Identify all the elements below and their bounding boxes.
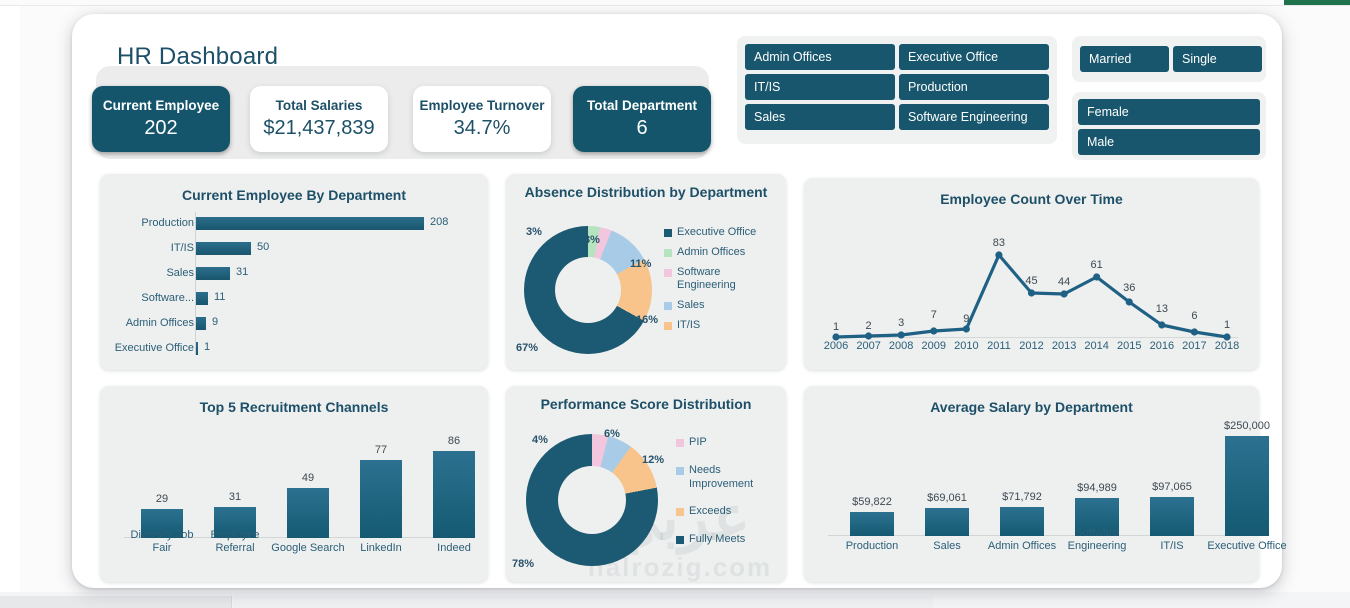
bar[interactable] — [1000, 507, 1044, 536]
data-point — [963, 325, 970, 332]
bar-row: IT/IS50 — [100, 237, 488, 262]
chart-title: Current Employee By Department — [100, 186, 488, 204]
legend-swatch-icon — [676, 467, 684, 475]
vertical-bar-chart: $59,822Production$69,061Sales$71,792Admi… — [814, 422, 1249, 572]
chart-legend: PIPNeeds ImprovementExceedsFully Meets — [676, 436, 786, 561]
donut-slice-label: 78% — [512, 558, 534, 570]
kpi-label: Total Salaries — [276, 99, 363, 114]
bar[interactable] — [360, 460, 402, 538]
bar-category-label: IT/IS — [34, 242, 194, 254]
bar-category-label: Employee Referral — [195, 529, 275, 557]
bar-value-label: $71,792 — [1002, 491, 1042, 503]
bar-category-label: IT/IS — [1130, 540, 1214, 554]
bar-row: Admin Offices9 — [100, 312, 488, 337]
data-point — [1126, 298, 1133, 305]
data-point — [1191, 328, 1198, 335]
data-point — [898, 331, 905, 338]
legend-label: PIP — [689, 436, 707, 450]
filter-single[interactable]: Single — [1173, 46, 1262, 72]
kpi-card-current-employee[interactable]: Current Employee 202 — [92, 86, 230, 152]
bar-value-label: 208 — [430, 216, 448, 228]
bar-value-label: $69,061 — [927, 492, 967, 504]
donut-slice-label: 3% — [584, 234, 600, 246]
bar-category-label: Sales — [34, 267, 194, 279]
bar[interactable] — [196, 292, 208, 305]
legend-swatch-icon — [676, 508, 684, 516]
x-tick-label: 2007 — [856, 340, 880, 352]
panel-current-employee-by-department: Current Employee By Department Productio… — [100, 174, 488, 370]
bottom-tab-right[interactable] — [233, 596, 933, 608]
horizontal-bar-chart: Production208IT/IS50Sales31Software...11… — [100, 212, 488, 362]
legend-item[interactable]: Needs Improvement — [676, 464, 786, 492]
bar-value-label: 1 — [204, 341, 210, 353]
data-point-label: 1 — [833, 321, 839, 333]
bar-category-label: Sales — [905, 540, 989, 554]
data-point-label: 13 — [1156, 303, 1168, 315]
data-point-label: 3 — [898, 317, 904, 329]
legend-item[interactable]: Software Engineering — [664, 266, 782, 294]
bar-value-label: $250,000 — [1224, 420, 1270, 432]
bar-value-label: 31 — [229, 491, 241, 503]
filter-software-engineering[interactable]: Software Engineering — [899, 104, 1049, 130]
bar-category-label: Software Engineering — [1055, 527, 1139, 555]
data-point-label: 44 — [1058, 276, 1070, 288]
filter-admin-offices[interactable]: Admin Offices — [745, 44, 895, 70]
bar-value-label: 86 — [448, 435, 460, 447]
bar-value-label: 50 — [257, 241, 269, 253]
x-tick-label: 2006 — [824, 340, 848, 352]
donut-slice-label: 4% — [532, 434, 548, 446]
legend-label: Fully Meets — [689, 533, 745, 547]
filter-production[interactable]: Production — [899, 74, 1049, 100]
x-axis-labels: 2006200720082009201020112012201320142015… — [816, 340, 1247, 360]
donut-slice-label: 67% — [516, 342, 538, 354]
bar-row: Software...11 — [100, 287, 488, 312]
legend-label: Sales — [677, 299, 705, 313]
filter-female[interactable]: Female — [1078, 99, 1260, 125]
bar-value-label: 77 — [375, 444, 387, 456]
bar[interactable] — [196, 217, 424, 230]
vertical-bar-chart: 29Diversity Job Fair31Employee Referral4… — [110, 422, 478, 572]
legend-item[interactable]: Fully Meets — [676, 533, 786, 547]
data-point-label: 9 — [963, 313, 969, 325]
data-point-label: 45 — [1025, 275, 1037, 287]
kpi-card-employee-turnover[interactable]: Employee Turnover 34.7% — [413, 86, 551, 152]
x-tick-label: 2014 — [1084, 340, 1108, 352]
dashboard-card: HR Dashboard Current Employee 202 Total … — [72, 14, 1282, 588]
filter-it-is[interactable]: IT/IS — [745, 74, 895, 100]
legend-swatch-icon — [664, 229, 672, 237]
bar-category-label: Admin Offices — [34, 317, 194, 329]
line-chart: 2006200720082009201020112012201320142015… — [816, 214, 1247, 362]
performance-donut-chart — [526, 434, 658, 566]
donut-slice-label: 3% — [526, 226, 542, 238]
legend-item[interactable]: Exceeds — [676, 505, 786, 519]
data-point-label: 2 — [866, 320, 872, 332]
chart-title: Top 5 Recruitment Channels — [100, 398, 488, 416]
legend-label: Admin Offices — [677, 246, 745, 260]
data-point — [1158, 321, 1165, 328]
bar-category-label: Production — [34, 217, 194, 229]
legend-item[interactable]: Executive Office — [664, 226, 782, 240]
bar-value-label: 11 — [214, 291, 225, 303]
donut-slice-label: 12% — [642, 454, 664, 466]
legend-label: Exceeds — [689, 505, 731, 519]
panel-top-recruitment-channels: Top 5 Recruitment Channels 29Diversity J… — [100, 386, 488, 582]
bar[interactable] — [196, 267, 230, 280]
legend-swatch-icon — [676, 439, 684, 447]
legend-swatch-icon — [664, 302, 672, 310]
legend-swatch-icon — [676, 536, 684, 544]
kpi-value: $21,437,839 — [263, 118, 374, 139]
x-tick-label: 2009 — [922, 340, 946, 352]
bar-value-label: 9 — [212, 316, 218, 328]
legend-item[interactable]: PIP — [676, 436, 786, 450]
filter-executive-office[interactable]: Executive Office — [899, 44, 1049, 70]
bar-value-label: $97,065 — [1152, 481, 1192, 493]
bar[interactable] — [196, 242, 251, 255]
chart-title: Absence Distribution by Department — [506, 183, 786, 201]
filter-male[interactable]: Male — [1078, 129, 1260, 155]
kpi-value: 6 — [636, 118, 647, 139]
legend-swatch-icon — [664, 322, 672, 330]
bar[interactable] — [287, 488, 329, 538]
panel-average-salary-by-department: Average Salary by Department $59,822Prod… — [804, 386, 1259, 582]
data-point-label: 6 — [1191, 310, 1197, 322]
kpi-label: Total Department — [587, 99, 697, 114]
legend-label: Needs Improvement — [689, 464, 786, 492]
top-divider — [0, 5, 1350, 6]
bar[interactable] — [196, 342, 198, 355]
bar[interactable] — [1225, 436, 1269, 536]
data-point-label: 1 — [1224, 319, 1230, 331]
x-tick-label: 2015 — [1117, 340, 1141, 352]
x-tick-label: 2017 — [1182, 340, 1206, 352]
data-point-label: 7 — [931, 309, 937, 321]
x-tick-label: 2018 — [1215, 340, 1239, 352]
legend-label: Executive Office — [677, 226, 756, 240]
dashboard-root: HR Dashboard Current Employee 202 Total … — [0, 0, 1350, 608]
legend-item[interactable]: Sales — [664, 299, 782, 313]
bar-category-label: Software... — [34, 292, 194, 304]
bar-row: Executive Office1 — [100, 337, 488, 362]
donut-slice-label: 16% — [636, 314, 658, 326]
x-tick-label: 2013 — [1052, 340, 1076, 352]
bar[interactable] — [1150, 497, 1194, 536]
data-point — [1060, 290, 1067, 297]
kpi-value: 34.7% — [454, 118, 511, 139]
filter-married[interactable]: Married — [1080, 46, 1169, 72]
kpi-label: Employee Turnover — [419, 99, 544, 114]
x-tick-label: 2010 — [954, 340, 978, 352]
bar-category-label: Executive Office — [1205, 540, 1289, 554]
panel-absence-distribution: Absence Distribution by Department 3%3%1… — [506, 174, 786, 370]
bar-category-label: Production — [830, 540, 914, 554]
x-tick-label: 2012 — [1019, 340, 1043, 352]
kpi-label: Current Employee — [103, 99, 219, 114]
bar[interactable] — [433, 451, 475, 538]
bar-value-label: 31 — [236, 266, 248, 278]
data-point — [865, 332, 872, 339]
legend-swatch-icon — [664, 269, 672, 277]
department-filter-panel: Admin Offices Executive Office IT/IS Pro… — [737, 36, 1057, 144]
legend-swatch-icon — [664, 249, 672, 257]
bar-category-label: Google Search — [268, 542, 348, 556]
gender-filter-panel: Female Male — [1072, 92, 1266, 160]
chart-title: Employee Count Over Time — [804, 190, 1259, 208]
bar[interactable] — [850, 512, 894, 536]
panel-performance-score-distribution: Performance Score Distribution 4%6%12%78… — [506, 386, 786, 582]
x-tick-label: 2008 — [889, 340, 913, 352]
legend-label: Software Engineering — [677, 266, 782, 294]
chart-title: Performance Score Distribution — [506, 395, 786, 413]
x-tick-label: 2011 — [987, 340, 1011, 352]
filter-sales[interactable]: Sales — [745, 104, 895, 130]
bar-category-label: Admin Offices — [980, 540, 1064, 554]
bar-category-label: Executive Office — [34, 342, 194, 354]
bar-value-label: $59,822 — [852, 496, 892, 508]
bottom-tab-left[interactable] — [0, 596, 232, 608]
legend-item[interactable]: IT/IS — [664, 319, 782, 333]
data-point-label: 83 — [993, 237, 1005, 249]
bar-category-label: Diversity Job Fair — [122, 529, 202, 557]
x-tick-label: 2016 — [1150, 340, 1174, 352]
bar-category-label: Indeed — [414, 542, 494, 556]
chart-title: Average Salary by Department — [804, 398, 1259, 416]
data-point — [1093, 273, 1100, 280]
bar[interactable] — [196, 317, 206, 330]
kpi-value: 202 — [144, 118, 177, 139]
bar-value-label: $94,989 — [1077, 482, 1117, 494]
kpi-card-total-salaries[interactable]: Total Salaries $21,437,839 — [250, 86, 388, 152]
bar-row: Production208 — [100, 212, 488, 237]
marital-filter-panel: Married Single — [1072, 36, 1266, 82]
bar[interactable] — [925, 508, 969, 536]
panel-employee-count-over-time: Employee Count Over Time 200620072008200… — [804, 178, 1259, 370]
bar-row: Sales31 — [100, 262, 488, 287]
data-point — [930, 327, 937, 334]
kpi-card-total-department[interactable]: Total Department 6 — [573, 86, 711, 152]
bar-value-label: 49 — [302, 472, 314, 484]
data-point — [995, 251, 1002, 258]
legend-label: IT/IS — [677, 319, 700, 333]
left-margin — [0, 6, 20, 600]
legend-item[interactable]: Admin Offices — [664, 246, 782, 260]
donut-slice-label: 6% — [604, 428, 620, 440]
donut-slice-label: 11% — [630, 258, 651, 270]
bar-value-label: 29 — [156, 493, 168, 505]
data-point-label: 61 — [1091, 259, 1103, 271]
data-point — [1028, 289, 1035, 296]
donut-ring — [526, 434, 658, 566]
data-point-label: 36 — [1123, 282, 1135, 294]
bar-category-label: LinkedIn — [341, 542, 421, 556]
chart-legend: Executive OfficeAdmin OfficesSoftware En… — [664, 226, 782, 339]
